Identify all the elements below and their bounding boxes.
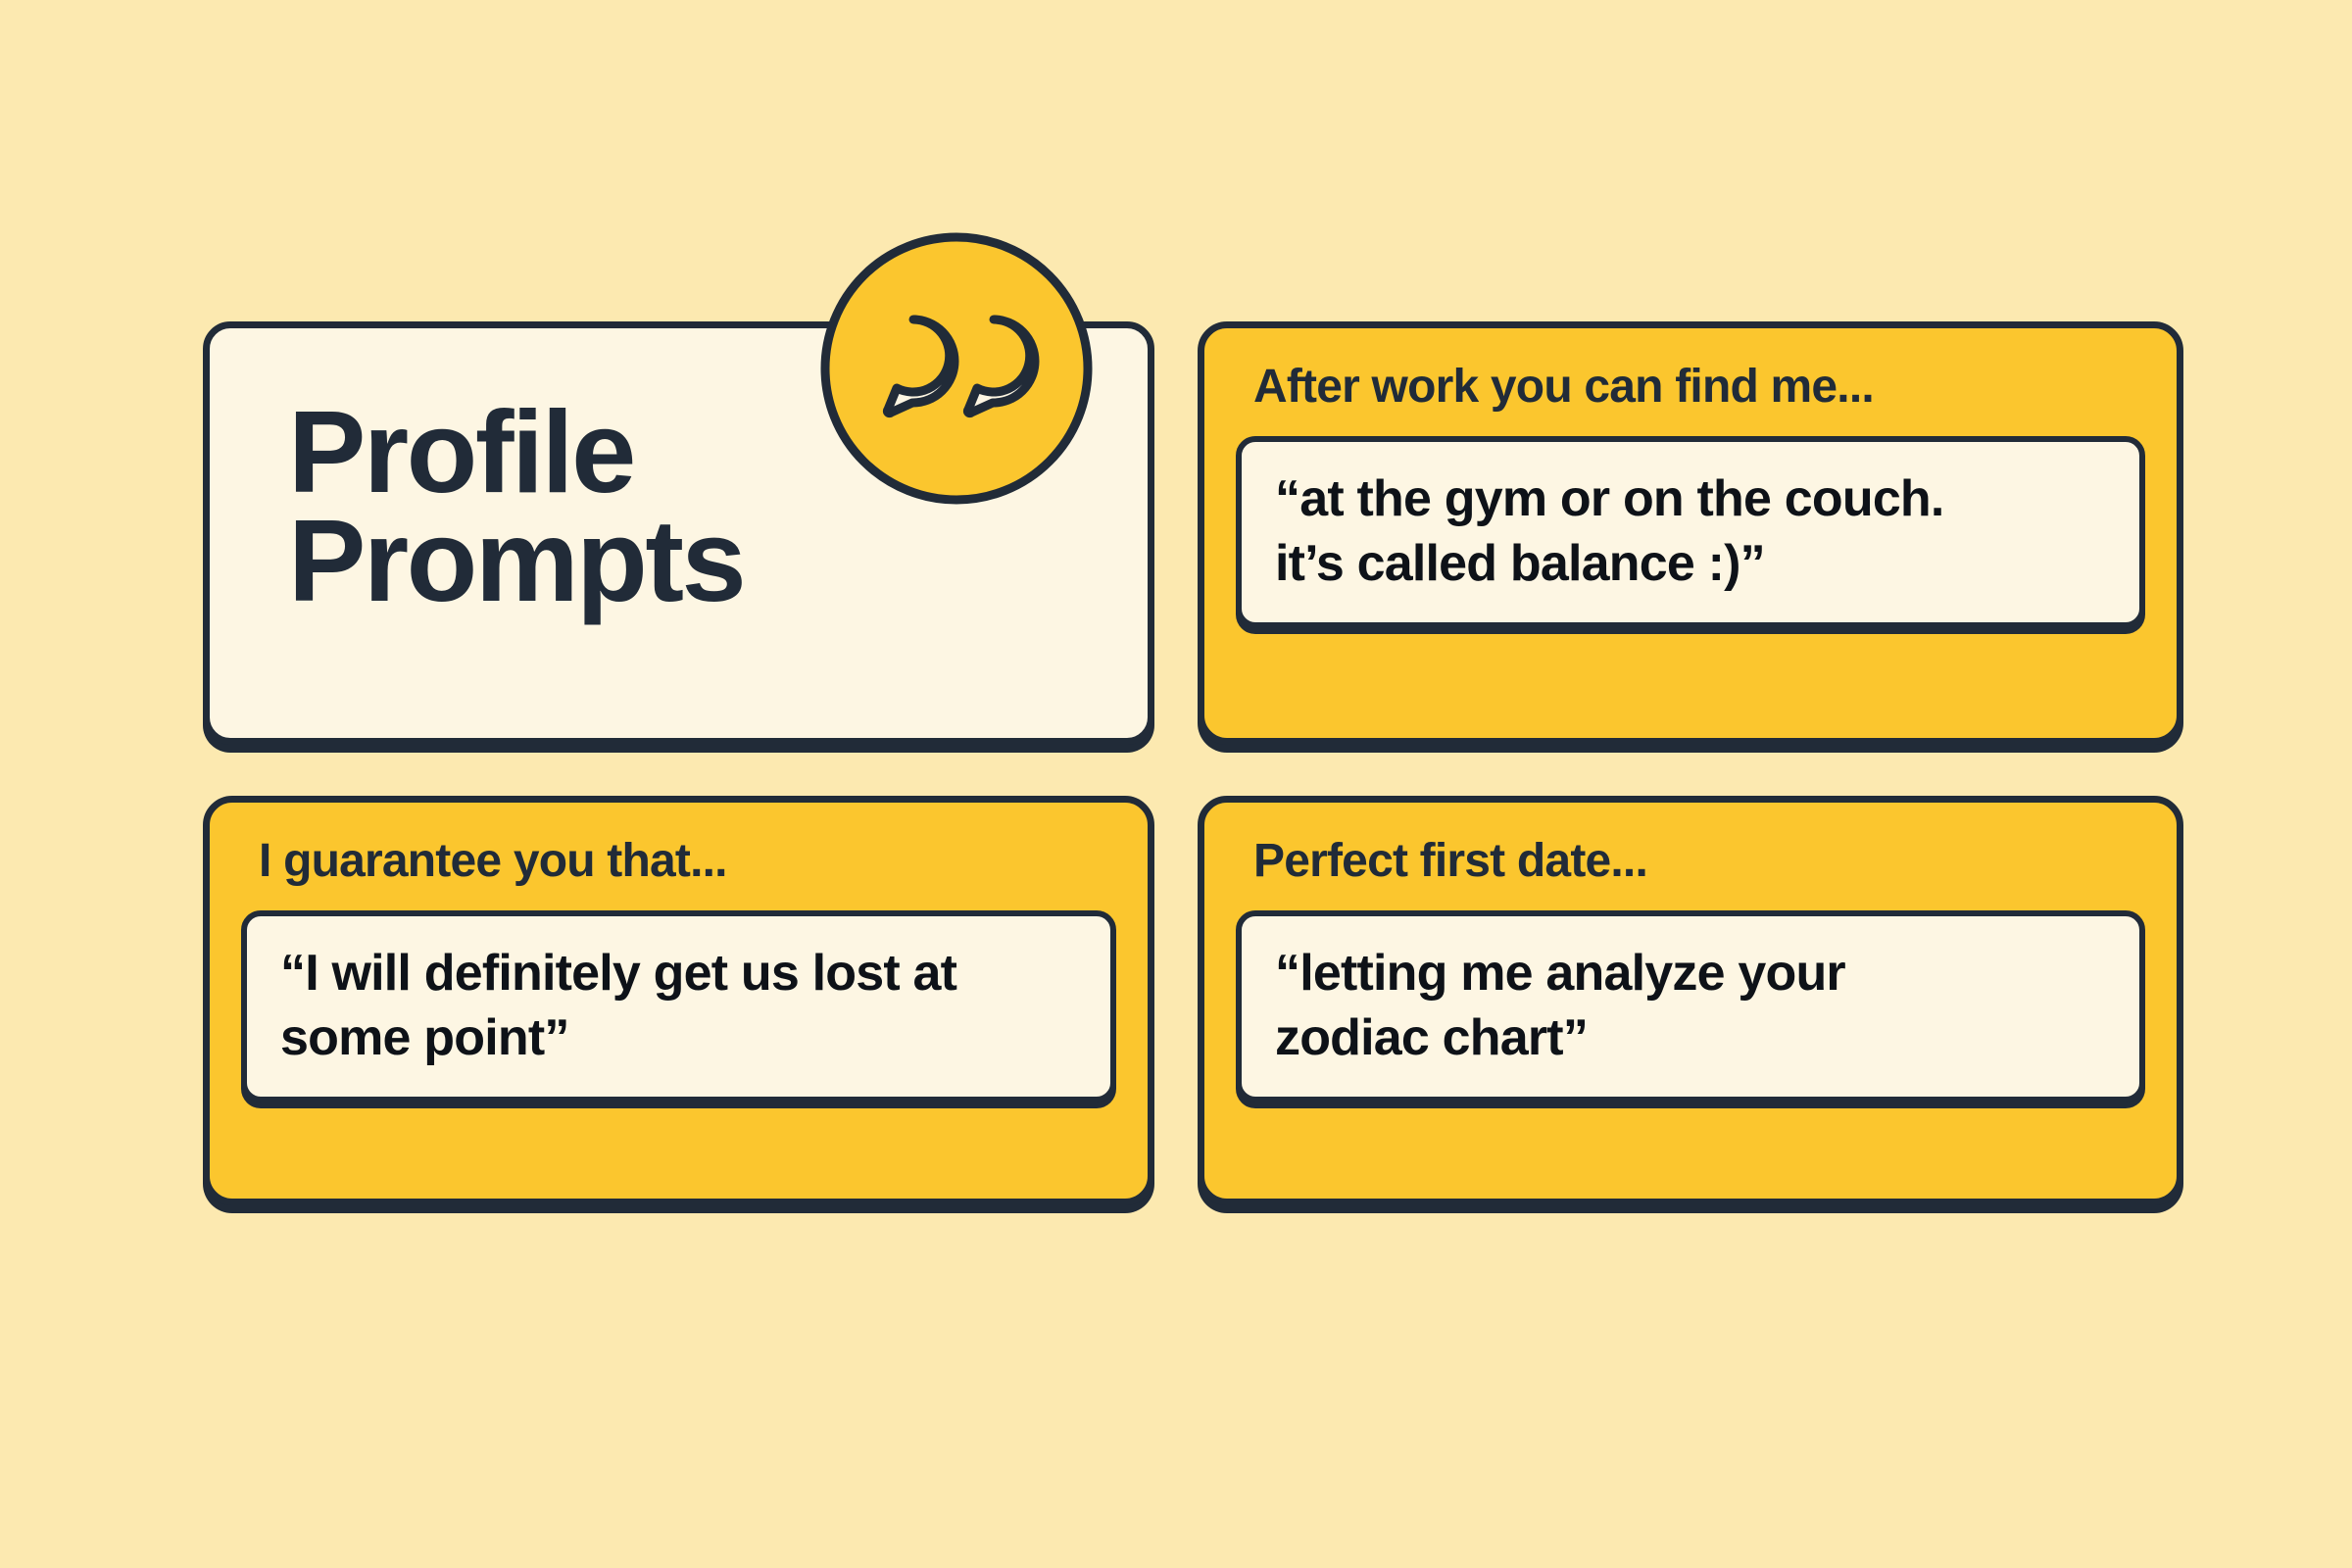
prompt-answer-text: “I will definitely get us lost at some p… (280, 942, 956, 1070)
prompt-answer-box[interactable]: “at the gym or on the couch. it’s called… (1236, 436, 2145, 628)
poster-canvas: Profile Prompts After work you can find … (0, 0, 2352, 1568)
double-quote-bubble-icon (819, 231, 1094, 506)
prompt-answer-text: “at the gym or on the couch. it’s called… (1275, 467, 1944, 596)
page-title: Profile Prompts (288, 399, 744, 615)
prompt-answer-box[interactable]: “I will definitely get us lost at some p… (241, 910, 1116, 1102)
prompt-label: After work you can find me... (1253, 364, 2145, 411)
prompt-card-guarantee[interactable]: I guarantee you that... “I will definite… (203, 796, 1154, 1205)
prompt-label: I guarantee you that... (259, 838, 1116, 885)
prompt-card-first-date[interactable]: Perfect first date... “letting me analyz… (1198, 796, 2183, 1205)
prompt-answer-box[interactable]: “letting me analyze your zodiac chart” (1236, 910, 2145, 1102)
prompt-card-after-work[interactable]: After work you can find me... “at the gy… (1198, 321, 2183, 745)
prompt-label: Perfect first date... (1253, 838, 2145, 885)
prompt-answer-text: “letting me analyze your zodiac chart” (1275, 942, 1845, 1070)
